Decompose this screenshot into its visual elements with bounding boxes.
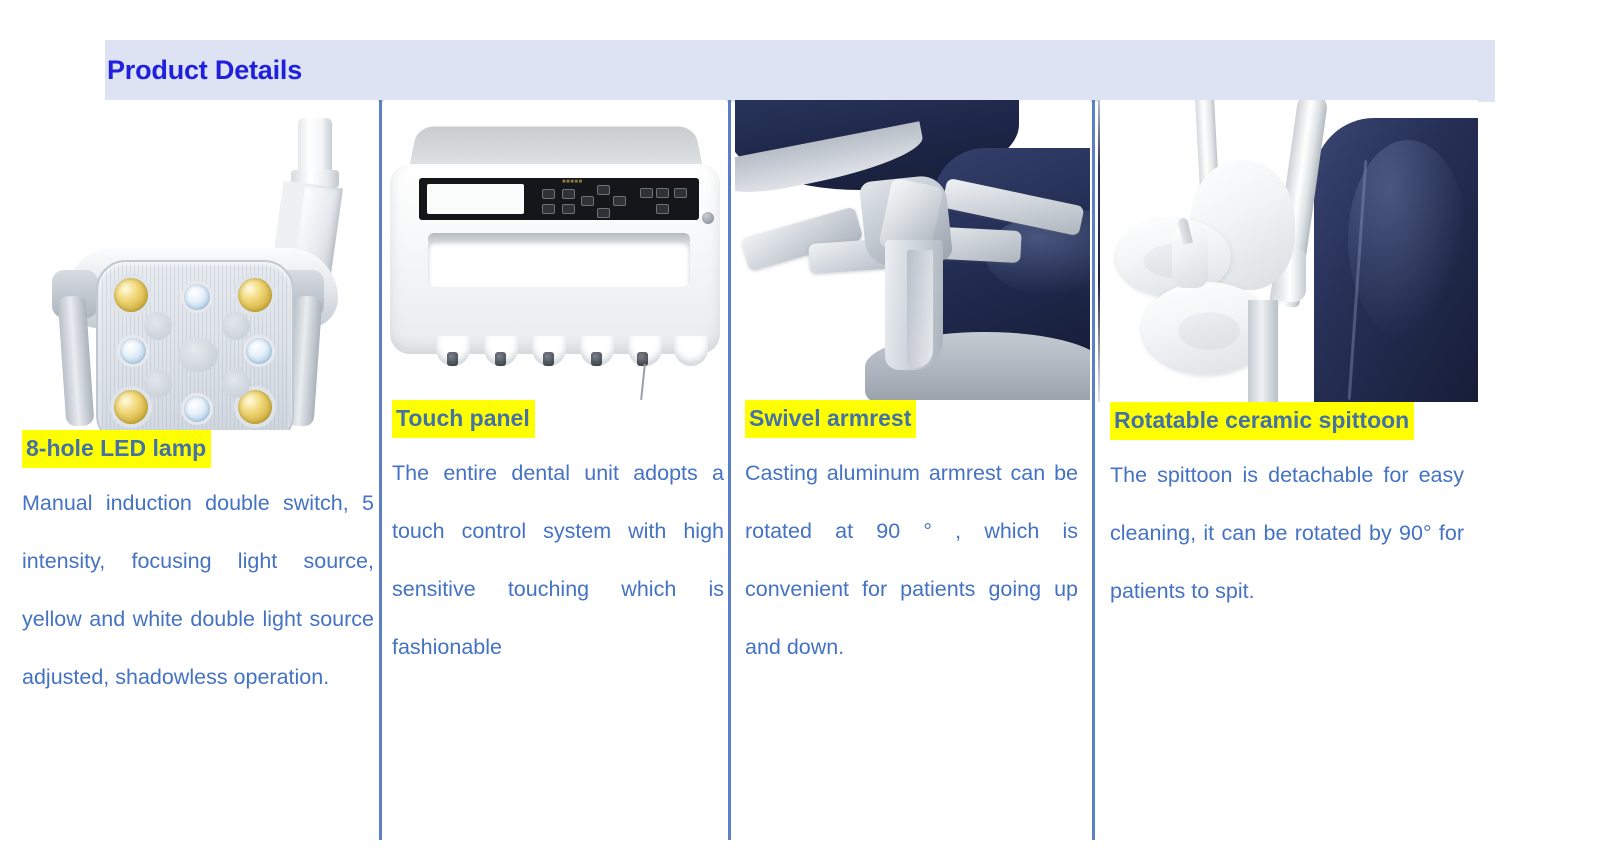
panel-button-1[interactable]	[542, 189, 555, 199]
led-white-top	[184, 284, 210, 310]
panel-dpad-up[interactable]	[597, 185, 610, 195]
feature-body-touch-panel: The entire dental unit adopts a touch co…	[384, 444, 726, 676]
feature-body-led-lamp: Manual induction double switch, 5 intens…	[8, 474, 378, 706]
handpiece-tip-3	[543, 352, 554, 366]
page-title: Product Details	[107, 55, 302, 86]
armrest-support-bracket-inner	[907, 250, 933, 368]
panel-preset-3[interactable]	[674, 188, 687, 198]
spittoon-mounting-post	[1248, 300, 1278, 402]
panel-button-3[interactable]	[542, 204, 555, 214]
touch-panel-image: ■■■■■	[384, 100, 726, 400]
lamp-head-panel	[96, 260, 294, 430]
panel-preset-1[interactable]	[640, 188, 653, 198]
panel-brand-mark: ■■■■■	[562, 179, 583, 185]
panel-side-knob[interactable]	[702, 212, 714, 224]
panel-lcd-display	[427, 184, 524, 214]
swivel-armrest-caption-wrap: Swivel armrest	[735, 400, 1090, 438]
swivel-armrest-image	[735, 100, 1090, 400]
feature-body-ceramic-spittoon: The spittoon is detachable for easy clea…	[1098, 446, 1478, 620]
handpiece-tip-1	[447, 352, 458, 366]
ceramic-spittoon-caption-wrap: Rotatable ceramic spittoon	[1098, 402, 1478, 440]
feature-column-swivel-armrest: Swivel armrest Casting aluminum armrest …	[735, 100, 1090, 676]
led-lamp-image	[8, 100, 378, 430]
product-details-page: Product Details	[0, 0, 1600, 860]
led-yellow-top-left	[114, 278, 148, 312]
handpiece-tip-5	[637, 352, 648, 366]
led-sensor-lower-right	[222, 370, 250, 398]
panel-handle-cutout	[428, 240, 690, 287]
feature-heading-ceramic-spittoon: Rotatable ceramic spittoon	[1110, 402, 1414, 440]
panel-dpad-down[interactable]	[597, 208, 610, 218]
adjacent-image-sliver	[1098, 100, 1100, 402]
led-sensor-upper-right	[222, 312, 250, 340]
led-lamp-caption-wrap: 8-hole LED lamp	[8, 430, 378, 468]
section-header-band	[105, 40, 1495, 102]
ceramic-spittoon-image	[1098, 100, 1478, 402]
panel-button-4[interactable]	[562, 204, 575, 214]
led-sensor-upper-left	[144, 312, 172, 340]
hose-holder-6	[674, 336, 708, 366]
touch-panel-caption-wrap: Touch panel	[384, 400, 726, 438]
handpiece-tip-2	[495, 352, 506, 366]
handpiece-cord	[640, 364, 646, 400]
feature-column-led-lamp: 8-hole LED lamp Manual induction double …	[8, 100, 378, 706]
handpiece-tip-4	[591, 352, 602, 366]
feature-body-swivel-armrest: Casting aluminum armrest can be rotated …	[735, 444, 1090, 676]
feature-heading-swivel-armrest: Swivel armrest	[745, 400, 916, 438]
feature-column-ceramic-spittoon: Rotatable ceramic spittoon The spittoon …	[1098, 100, 1478, 620]
column-divider-3	[1092, 100, 1095, 840]
panel-preset-2[interactable]	[656, 188, 669, 198]
led-sensor-lower-left	[144, 370, 172, 398]
feature-column-touch-panel: ■■■■■	[384, 100, 726, 676]
panel-dpad-left[interactable]	[581, 196, 594, 206]
column-divider-1	[379, 100, 382, 840]
led-white-right	[246, 338, 272, 364]
column-divider-2	[728, 100, 731, 840]
led-white-left	[120, 338, 146, 364]
lamp-center-sensor-icon	[178, 338, 218, 372]
led-white-bottom	[184, 396, 210, 422]
panel-button-2[interactable]	[562, 189, 575, 199]
feature-heading-touch-panel: Touch panel	[392, 400, 535, 438]
led-yellow-bottom-left	[114, 390, 148, 424]
panel-dpad-right[interactable]	[613, 196, 626, 206]
panel-preset-4[interactable]	[656, 204, 669, 214]
ceramic-bowl-front-drain	[1178, 312, 1240, 350]
led-yellow-top-right	[238, 278, 272, 312]
feature-heading-led-lamp: 8-hole LED lamp	[22, 430, 211, 468]
